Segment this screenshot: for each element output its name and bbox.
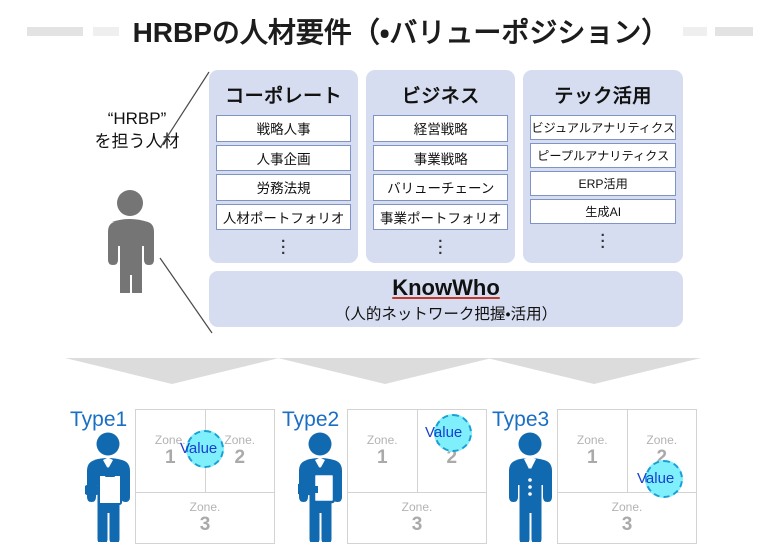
value-label-3: Value bbox=[637, 470, 674, 487]
column-item[interactable]: ピープルアナリティクス bbox=[530, 143, 676, 168]
column-more-dots-business: ··· bbox=[373, 233, 508, 257]
type-block-3[interactable]: Type3 Zone. 1 Zone. 2 bbox=[482, 402, 712, 552]
column-more-dots-corporate: ··· bbox=[216, 233, 351, 257]
zone-number: 3 bbox=[412, 514, 423, 536]
title-decor-bar-right-inner bbox=[683, 27, 707, 36]
column-item[interactable]: 労務法規 bbox=[216, 174, 351, 201]
column-more-dots-tech: ··· bbox=[530, 227, 676, 251]
column-item[interactable]: ERP活用 bbox=[530, 171, 676, 196]
persona-label-line1: “HRBP” bbox=[62, 108, 212, 131]
zone-name: Zone. bbox=[402, 501, 433, 514]
column-business[interactable]: ビジネス 経営戦略 事業戦略 バリューチェーン 事業ポートフォリオ ··· bbox=[366, 70, 515, 263]
column-item[interactable]: 人事企画 bbox=[216, 145, 351, 172]
column-item[interactable]: 人材ポートフォリオ bbox=[216, 204, 351, 231]
person-clipboard-blue-icon bbox=[72, 430, 144, 542]
knowwho-subtitle: （人的ネットワーク把握・活用） bbox=[335, 302, 557, 324]
zone-number: 2 bbox=[234, 447, 245, 469]
flow-arrow-2 bbox=[278, 358, 492, 384]
column-item[interactable]: 経営戦略 bbox=[373, 115, 508, 142]
value-label-1: Value bbox=[180, 440, 217, 457]
column-item[interactable]: ビジュアルアナリティクス bbox=[530, 115, 676, 140]
column-tech[interactable]: テック活用 ビジュアルアナリティクス ピープルアナリティクス ERP活用 生成A… bbox=[523, 70, 683, 263]
column-item[interactable]: 事業戦略 bbox=[373, 145, 508, 172]
column-item[interactable]: 事業ポートフォリオ bbox=[373, 204, 508, 231]
value-label-2: Value bbox=[425, 424, 462, 441]
page-title-text: HRBPの人材要件（・バリューポジション） bbox=[133, 11, 670, 51]
knowwho-title: KnowWho bbox=[392, 275, 500, 301]
zone-number: 1 bbox=[377, 447, 388, 469]
column-title-tech: テック活用 bbox=[530, 77, 676, 115]
zone-cell-1[interactable]: Zone. 1 bbox=[558, 410, 627, 492]
title-decor-bar-left-inner bbox=[93, 27, 119, 36]
person-tablet-blue-icon bbox=[284, 430, 356, 542]
zone-cell-3[interactable]: Zone. 3 bbox=[348, 492, 486, 543]
flow-arrow-3 bbox=[487, 358, 701, 384]
title-decor-bar-right bbox=[715, 27, 753, 36]
zone-name: Zone. bbox=[190, 501, 221, 514]
knowwho-panel[interactable]: KnowWho （人的ネットワーク把握・活用） bbox=[209, 271, 683, 327]
column-title-business: ビジネス bbox=[373, 77, 508, 115]
zone-cell-3[interactable]: Zone. 3 bbox=[136, 492, 274, 543]
zone-number: 1 bbox=[165, 447, 176, 469]
zone-name: Zone. bbox=[577, 434, 608, 447]
person-suit-blue-icon bbox=[494, 430, 566, 542]
persona-label-block: “HRBP” を担う人材 bbox=[62, 108, 212, 154]
type-label-3: Type3 bbox=[492, 408, 549, 432]
type-label-2: Type2 bbox=[282, 408, 339, 432]
capability-columns: コーポレート 戦略人事 人事企画 労務法規 人材ポートフォリオ ··· ビジネス… bbox=[209, 70, 683, 263]
column-item[interactable]: バリューチェーン bbox=[373, 174, 508, 201]
flow-arrow-1 bbox=[65, 358, 279, 384]
zone-number: 3 bbox=[200, 514, 211, 536]
type-block-2[interactable]: Type2 Zone. 1 Zone. 2 bbox=[272, 402, 502, 552]
title-decor-bar-left bbox=[27, 27, 83, 36]
zone-name: Zone. bbox=[646, 434, 677, 447]
type-label-1: Type1 bbox=[70, 408, 127, 432]
column-item[interactable]: 戦略人事 bbox=[216, 115, 351, 142]
page-title: HRBPの人材要件（・バリューポジション） bbox=[0, 10, 780, 52]
zone-cell-1[interactable]: Zone. 1 bbox=[348, 410, 417, 492]
diagram-canvas: HRBPの人材要件（・バリューポジション） “HRBP” を担う人材 コーポレー… bbox=[0, 0, 780, 559]
zone-cell-3[interactable]: Zone. 3 bbox=[558, 492, 696, 543]
zone-name: Zone. bbox=[612, 501, 643, 514]
column-item[interactable]: 生成AI bbox=[530, 199, 676, 224]
zone-name: Zone. bbox=[224, 434, 255, 447]
type-block-1[interactable]: Type1 Zone. 1 Zone. 2 bbox=[60, 402, 290, 552]
zone-name: Zone. bbox=[367, 434, 398, 447]
persona-label-line2: を担う人材 bbox=[62, 131, 212, 154]
column-corporate[interactable]: コーポレート 戦略人事 人事企画 労務法規 人材ポートフォリオ ··· bbox=[209, 70, 358, 263]
person-gray-icon bbox=[95, 188, 165, 293]
zone-number: 1 bbox=[587, 447, 598, 469]
zone-number: 3 bbox=[622, 514, 633, 536]
column-title-corporate: コーポレート bbox=[216, 77, 351, 115]
